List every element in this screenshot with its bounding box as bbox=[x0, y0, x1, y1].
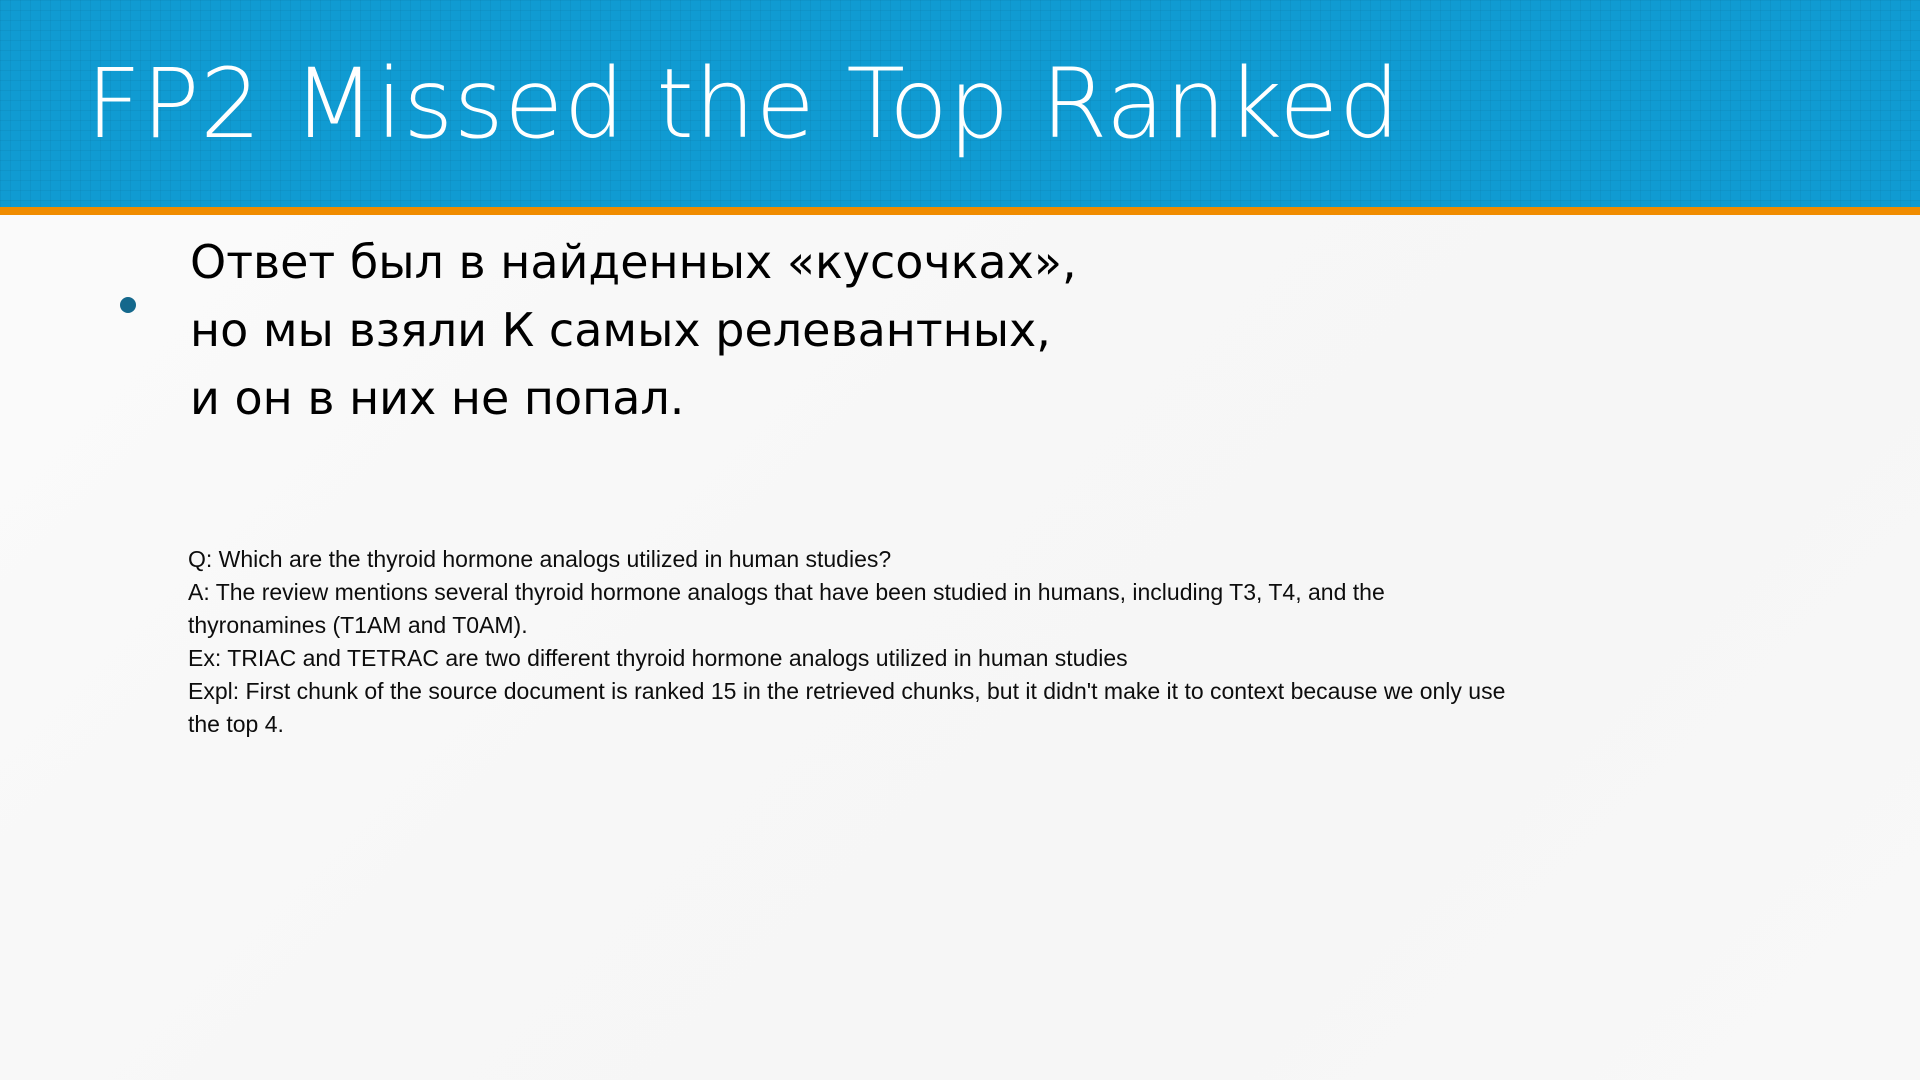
title-underline-divider bbox=[0, 207, 1920, 215]
qa-example-block: Q: Which are the thyroid hormone analogs… bbox=[188, 543, 1523, 741]
slide-body: Ответ был в найденных «кусочках», но мы … bbox=[0, 215, 1920, 1080]
bullet-list: Ответ был в найденных «кусочках», но мы … bbox=[0, 215, 1500, 432]
qa-explanation-line: Expl: First chunk of the source document… bbox=[188, 675, 1523, 741]
qa-question-line: Q: Which are the thyroid hormone analogs… bbox=[188, 543, 1523, 576]
bullet-item-label: Ответ был в найденных «кусочках», но мы … bbox=[190, 215, 1500, 432]
page-title: FP2 Missed the Top Ranked bbox=[86, 52, 1846, 156]
list-item: Ответ был в найденных «кусочках», но мы … bbox=[0, 215, 1500, 432]
qa-expected-line: Ex: TRIAC and TETRAC are two different t… bbox=[188, 642, 1523, 675]
qa-answer-line: A: The review mentions several thyroid h… bbox=[188, 576, 1523, 642]
slide-title-banner: FP2 Missed the Top Ranked bbox=[0, 0, 1920, 207]
round-bullet-icon bbox=[120, 297, 136, 313]
presentation-slide: FP2 Missed the Top Ranked Ответ был в на… bbox=[0, 0, 1920, 1080]
